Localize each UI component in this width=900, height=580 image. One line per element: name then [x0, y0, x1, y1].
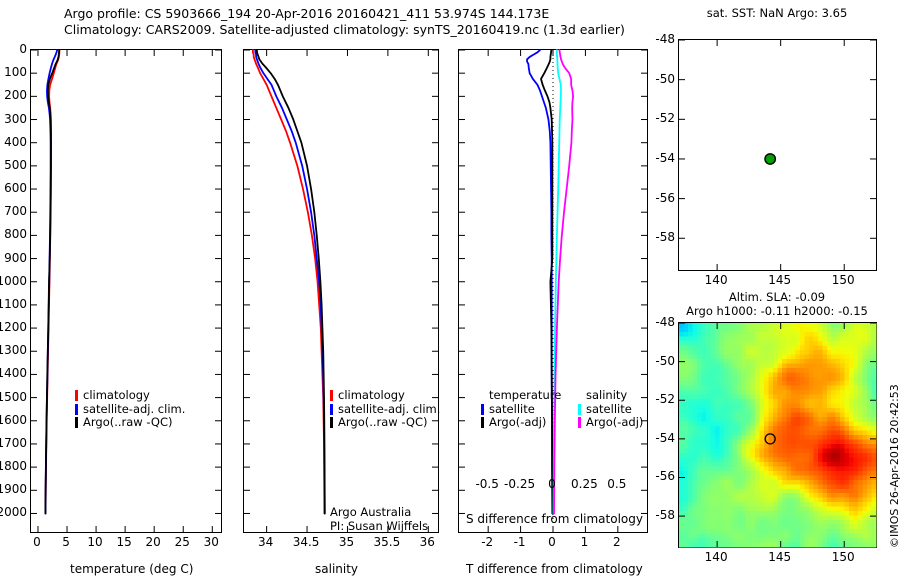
legend-label-salinity-satellite: satellite [586, 403, 632, 417]
imos-watermark: ©IMOS 26-Apr-2016 20:42:53 [888, 384, 900, 548]
axis-tick-label: 5 [62, 535, 70, 549]
legend-header-salinity: salinity [578, 389, 643, 403]
axis-tick-label: 150 [832, 273, 855, 287]
axis-tick-label: 1500 [0, 390, 27, 404]
difference-legend-temperature: temperature satellite Argo(-adj) [481, 389, 561, 430]
axis-tick-label: 1100 [0, 297, 27, 311]
axis-tick-label: 1400 [0, 366, 27, 380]
axis-tick-label: -58 [655, 230, 675, 244]
axis-tick-label: 145 [768, 273, 791, 287]
axis-tick-label: 0 [33, 535, 41, 549]
legend-item-argo-raw: Argo(..raw -QC) [330, 416, 440, 430]
legend-swatch-temperature-satellite [481, 404, 484, 415]
axis-tick-label: -54 [655, 431, 675, 445]
legend-label-temperature-argo: Argo(-adj) [489, 416, 546, 430]
axis-tick-label: 1300 [0, 343, 27, 357]
salinity-legend: climatology satellite-adj. clim. Argo(..… [330, 389, 440, 430]
legend-swatch-argo-raw [75, 417, 78, 428]
axis-tick-label: 0.5 [607, 477, 626, 491]
axis-tick-label: 1900 [0, 482, 27, 496]
axis-tick-label: -54 [655, 151, 675, 165]
axis-tick-label: -2 [481, 535, 493, 549]
axis-tick-label: -56 [655, 469, 675, 483]
legend-item-salinity-argo: Argo(-adj) [578, 416, 643, 430]
legend-item-satellite-adj-clim: satellite-adj. clim. [75, 403, 185, 417]
axis-tick-label: 140 [705, 550, 728, 564]
map-plot [679, 40, 876, 270]
axis-tick-label: 800 [4, 227, 27, 241]
legend-label-satellite-adj-clim: satellite-adj. clim. [83, 403, 185, 417]
axis-tick-label: 140 [705, 273, 728, 287]
legend-label-argo-raw: Argo(..raw -QC) [338, 416, 428, 430]
difference-profile-plot [459, 50, 647, 532]
legend-label-salinity-header: salinity [586, 389, 627, 403]
axis-tick-label: 150 [832, 550, 855, 564]
legend-item-salinity-satellite: satellite [578, 403, 643, 417]
difference-axis-title-top: S difference from climatology [466, 512, 643, 526]
axis-tick-label: -0.5 [475, 477, 498, 491]
axis-tick-label: 0 [548, 477, 556, 491]
legend-label-satellite-adj-clim: satellite-adj. clim. [338, 403, 440, 417]
legend-swatch-argo-raw [330, 417, 333, 428]
legend-swatch-satellite-adj-clim [330, 404, 333, 415]
credit-line-1: Argo Australia [330, 505, 428, 519]
sla-heatmap-plot [679, 323, 876, 547]
temperature-axis-title: temperature (deg C) [70, 562, 193, 576]
difference-axis-title-bottom: T difference from climatology [466, 562, 643, 576]
legend-swatch-salinity-argo [578, 417, 581, 428]
axis-tick-label: -56 [655, 191, 675, 205]
legend-label-climatology: climatology [83, 389, 150, 403]
axis-tick-label: 35 [339, 535, 354, 549]
salinity-profile-plot [244, 50, 438, 532]
axis-tick-label: -48 [655, 315, 675, 329]
legend-item-temperature-satellite: satellite [481, 403, 561, 417]
axis-tick-label: 25 [175, 535, 190, 549]
difference-legend-salinity: salinity satellite Argo(-adj) [578, 389, 643, 430]
temperature-legend: climatology satellite-adj. clim. Argo(..… [75, 389, 185, 430]
axis-tick-label: 100 [4, 65, 27, 79]
axis-tick-label: 400 [4, 135, 27, 149]
salinity-axis-title: salinity [315, 562, 358, 576]
page-title-line2: Climatology: CARS2009. Satellite-adjuste… [64, 22, 625, 37]
axis-tick-label: 0.25 [571, 477, 598, 491]
axis-tick-label: 30 [204, 535, 219, 549]
axis-tick-label: 2000 [0, 505, 27, 519]
axis-tick-label: -50 [655, 354, 675, 368]
legend-label-climatology: climatology [338, 389, 405, 403]
axis-tick-label: 145 [768, 550, 791, 564]
axis-tick-label: -1 [514, 535, 526, 549]
credit-line-2: PI: Susan Wijffels [330, 519, 428, 533]
axis-tick-label: 600 [4, 181, 27, 195]
axis-tick-label: 15 [116, 535, 131, 549]
axis-tick-label: -50 [655, 72, 675, 86]
legend-label-temperature-satellite: satellite [489, 403, 535, 417]
axis-tick-label: -58 [655, 508, 675, 522]
sla-header-line1: Altim. SLA: -0.09 [672, 290, 882, 304]
map-header: sat. SST: NaN Argo: 3.65 [672, 6, 882, 20]
legend-item-climatology: climatology [75, 389, 185, 403]
axis-tick-label: -48 [655, 32, 675, 46]
argo-australia-credit: Argo Australia PI: Susan Wijffels [330, 505, 428, 533]
axis-tick-label: 1700 [0, 436, 27, 450]
legend-swatch-temperature-argo [481, 417, 484, 428]
axis-tick-label: 10 [87, 535, 102, 549]
legend-item-satellite-adj-clim: satellite-adj. clim. [330, 403, 440, 417]
legend-label-argo-raw: Argo(..raw -QC) [83, 416, 173, 430]
axis-tick-label: -52 [655, 111, 675, 125]
legend-swatch-climatology [75, 390, 78, 401]
legend-item-temperature-argo: Argo(-adj) [481, 416, 561, 430]
page-title-line1: Argo profile: CS 5903666_194 20-Apr-2016… [64, 6, 549, 21]
axis-tick-label: 34 [258, 535, 273, 549]
axis-tick-label: 36 [420, 535, 435, 549]
legend-item-argo-raw: Argo(..raw -QC) [75, 416, 185, 430]
axis-tick-label: 0 [19, 42, 27, 56]
axis-tick-label: 700 [4, 204, 27, 218]
axis-tick-label: 1000 [0, 274, 27, 288]
temperature-profile-plot [31, 50, 221, 532]
sla-header-line2: Argo h1000: -0.11 h2000: -0.15 [662, 304, 892, 318]
legend-swatch-climatology [330, 390, 333, 401]
axis-tick-label: 200 [4, 88, 27, 102]
axis-tick-label: 900 [4, 251, 27, 265]
axis-tick-label: 35.5 [374, 535, 401, 549]
axis-tick-label: 20 [146, 535, 161, 549]
axis-tick-label: 300 [4, 112, 27, 126]
legend-label-temperature-header: temperature [489, 389, 561, 403]
legend-header-temperature: temperature [481, 389, 561, 403]
axis-tick-label: -0.25 [504, 477, 535, 491]
axis-tick-label: 34.5 [293, 535, 320, 549]
legend-swatch-satellite-adj-clim [75, 404, 78, 415]
axis-tick-label: 1600 [0, 413, 27, 427]
axis-tick-label: 1 [581, 535, 589, 549]
legend-swatch-salinity-satellite [578, 404, 581, 415]
panel-sla [678, 322, 877, 548]
axis-tick-label: -52 [655, 392, 675, 406]
legend-item-climatology: climatology [330, 389, 440, 403]
axis-tick-label: 1800 [0, 459, 27, 473]
panel-map [678, 39, 877, 271]
axis-tick-label: 500 [4, 158, 27, 172]
legend-label-salinity-argo: Argo(-adj) [586, 416, 643, 430]
panel-temperature [30, 49, 222, 533]
axis-tick-label: 0 [548, 535, 556, 549]
panel-difference [458, 49, 648, 533]
axis-tick-label: 1200 [0, 320, 27, 334]
panel-salinity [243, 49, 439, 533]
axis-tick-label: 2 [613, 535, 621, 549]
